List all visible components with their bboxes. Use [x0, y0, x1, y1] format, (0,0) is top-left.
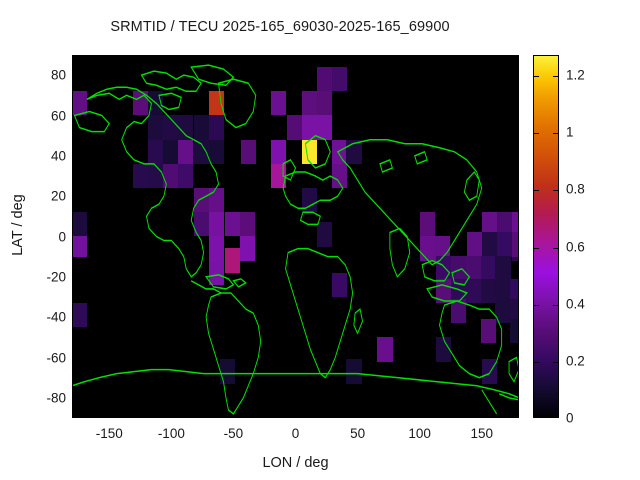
colorbar-tick	[553, 133, 558, 134]
colorbar-tick-label: 0	[566, 411, 574, 426]
y-tick-label: -80	[46, 390, 66, 405]
colorbar-tick	[553, 190, 558, 191]
map-plot-area[interactable]	[72, 55, 519, 418]
colorbar-tick	[553, 362, 558, 363]
x-axis-title: LON / deg	[72, 455, 519, 471]
figure-title: SRMTID / TECU 2025-165_69030-2025-165_69…	[0, 19, 560, 35]
x-tick-label: 150	[470, 426, 493, 441]
colorbar-tick	[534, 133, 539, 134]
colorbar-tick	[534, 190, 539, 191]
y-tick-label: -60	[46, 350, 66, 365]
colorbar-tick-label: 0.8	[566, 182, 585, 197]
y-tick-label: 20	[51, 189, 66, 204]
colorbar-tick-label: 0.6	[566, 239, 585, 254]
colorbar-tick	[534, 305, 539, 306]
y-axis-title: LAT / deg	[10, 145, 26, 305]
x-tick-label: 50	[350, 426, 365, 441]
x-axis-tick-labels: -150-100-50050100150	[0, 426, 640, 446]
y-tick-label: 80	[51, 68, 66, 83]
colorbar	[533, 55, 559, 418]
y-tick-label: 0	[58, 229, 66, 244]
x-tick-label: 0	[292, 426, 300, 441]
colorbar-tick	[553, 305, 558, 306]
coastline-layer	[72, 55, 519, 418]
x-tick-label: -150	[96, 426, 123, 441]
colorbar-tick-label: 1	[566, 125, 574, 140]
y-tick-label: 40	[51, 148, 66, 163]
colorbar-tick	[534, 362, 539, 363]
y-tick-label: -40	[46, 310, 66, 325]
colorbar-tick	[553, 248, 558, 249]
colorbar-tick	[534, 76, 539, 77]
colorbar-tick-label: 0.2	[566, 353, 585, 368]
x-tick-label: -50	[224, 426, 244, 441]
colorbar-tick-label: 1.2	[566, 68, 585, 83]
colorbar-tick	[534, 248, 539, 249]
x-tick-label: 100	[408, 426, 431, 441]
tec-map-figure: SRMTID / TECU 2025-165_69030-2025-165_69…	[0, 0, 640, 480]
y-tick-label: -20	[46, 269, 66, 284]
colorbar-tick	[553, 76, 558, 77]
colorbar-tick-label: 0.4	[566, 296, 585, 311]
x-tick-label: -100	[158, 426, 185, 441]
y-tick-label: 60	[51, 108, 66, 123]
